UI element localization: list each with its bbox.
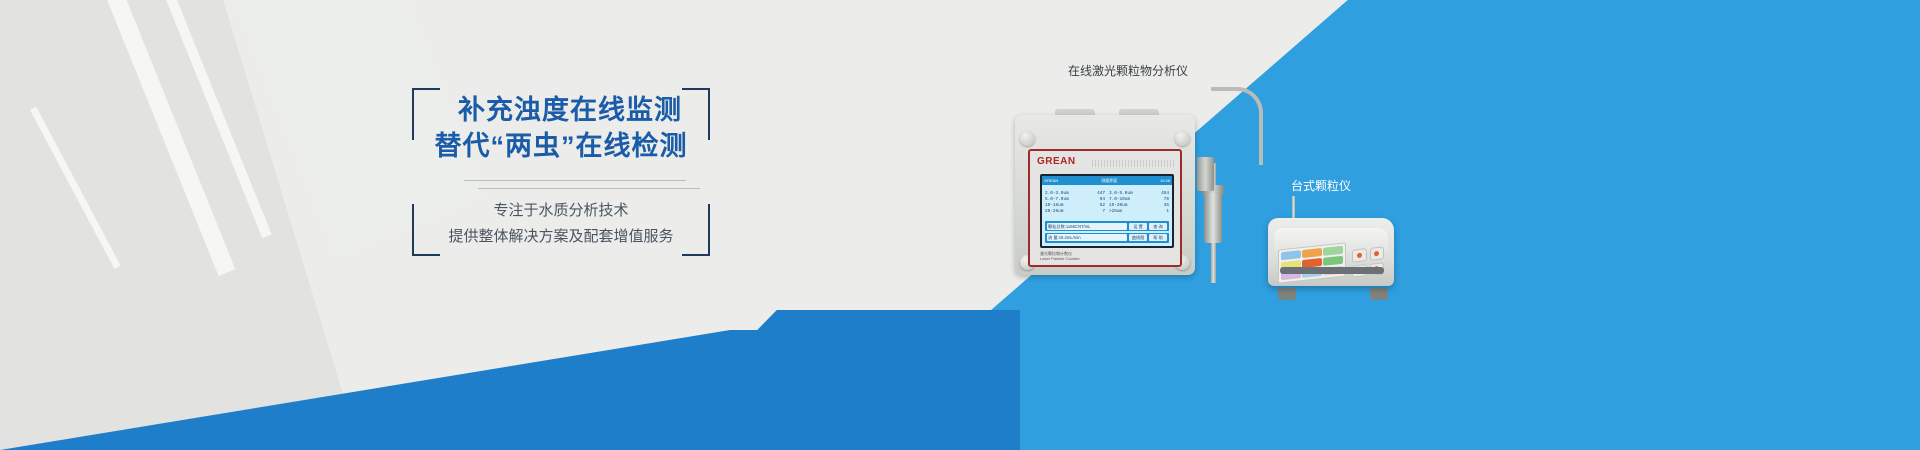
screen-title-right: 10:46 xyxy=(1160,178,1170,183)
subheadline-line-1: 专注于水质分析技术 xyxy=(412,198,710,224)
screen-reading-value: 52 xyxy=(1100,203,1105,208)
screen-chart-button[interactable]: 曲线图 xyxy=(1129,234,1147,241)
screen-reading-range: >25um xyxy=(1109,209,1122,214)
bench-label: 台式颗粒仪 xyxy=(1291,177,1351,194)
bench-foot-right xyxy=(1370,288,1388,300)
analyzer-screw-top-right xyxy=(1175,131,1190,146)
headline-line-1: 补充浊度在线监测 xyxy=(412,92,710,128)
analyzer-label: 在线激光颗粒物分析仪 xyxy=(1068,62,1188,79)
screen-reading-value: 1 xyxy=(1166,209,1169,214)
screen-reading-cell: 2.0-3.0um447 xyxy=(1045,191,1105,196)
subheadline: 专注于水质分析技术 提供整体解决方案及配套增值服务 xyxy=(412,198,710,250)
screen-title-bar: GREAN 测量界面 10:46 xyxy=(1042,176,1172,185)
screen-reading-value: 447 xyxy=(1097,191,1105,196)
analyzer-caption: 激光颗粒物计数仪 Laser Particle Counter xyxy=(1040,251,1080,261)
headline-line-2: 替代“两虫”在线检测 xyxy=(412,128,710,164)
screen-reading-cell: 15-20um35 xyxy=(1109,203,1169,208)
analyzer-front-panel: GREAN GREAN 测量界面 10:46 2.0-3.0um4473.0-5… xyxy=(1028,149,1182,267)
bench-front-slot xyxy=(1280,267,1384,274)
screen-total-field: 颗粒总数:1166CNT/mL xyxy=(1047,223,1127,230)
analyzer-port xyxy=(1197,157,1214,191)
screen-query-button[interactable]: 查 询 xyxy=(1149,223,1167,230)
bench-touchscreen[interactable] xyxy=(1278,242,1346,283)
screen-reading-cell: 10-15um52 xyxy=(1045,203,1105,208)
screen-reading-value: 35 xyxy=(1164,203,1169,208)
screen-reading-value: 7 xyxy=(1102,209,1105,214)
screen-reading-cell: >25um1 xyxy=(1109,209,1169,214)
online-analyzer-device: GREAN GREAN 测量界面 10:46 2.0-3.0um4473.0-5… xyxy=(1015,105,1195,280)
bench-tile-3 xyxy=(1323,246,1343,256)
screen-reading-value: 454 xyxy=(1161,191,1169,196)
analyzer-screw-top-left xyxy=(1020,131,1035,146)
bench-tile-2 xyxy=(1302,248,1322,258)
bench-tile-6 xyxy=(1323,256,1343,266)
subheadline-line-2: 提供整体解决方案及配套增值服务 xyxy=(412,224,710,250)
analyzer-brand-logo: GREAN xyxy=(1037,156,1076,167)
screen-settings-button[interactable]: 设 置 xyxy=(1129,223,1147,230)
screen-title-center: 测量界面 xyxy=(1101,178,1117,184)
bench-tile-1 xyxy=(1281,250,1301,260)
screen-reading-range: 10-15um xyxy=(1045,203,1063,208)
analyzer-valve xyxy=(1204,193,1222,243)
screen-reading-cell: 20-25um7 xyxy=(1045,209,1105,214)
screen-reading-cell: 5.0-7.0um94 xyxy=(1045,197,1105,202)
analyzer-screen[interactable]: GREAN 测量界面 10:46 2.0-3.0um4473.0-5.0um45… xyxy=(1040,174,1174,248)
bench-particle-counter-device xyxy=(1268,200,1398,300)
headline: 补充浊度在线监测 替代“两虫”在线检测 xyxy=(412,92,710,164)
bench-key-2[interactable] xyxy=(1370,246,1385,260)
screen-reading-range: 15-20um xyxy=(1109,203,1127,208)
screen-reading-value: 94 xyxy=(1100,197,1105,202)
bench-key-1[interactable] xyxy=(1352,248,1367,262)
bench-enclosure xyxy=(1268,218,1394,286)
analyzer-pipe-bend xyxy=(1211,87,1263,165)
screen-reading-cell: 3.0-5.0um454 xyxy=(1109,191,1169,196)
analyzer-vent-hatch xyxy=(1092,160,1174,167)
screen-reading-range: 7.0-10um xyxy=(1109,197,1130,202)
screen-row-total: 颗粒总数:1166CNT/mL 设 置 查 询 xyxy=(1045,221,1169,231)
bench-foot-left xyxy=(1278,288,1296,300)
screen-row-flow: 流 量:19.2mL/min 曲线图 帮 助 xyxy=(1045,233,1169,243)
screen-help-button[interactable]: 帮 助 xyxy=(1149,234,1167,241)
screen-reading-value: 76 xyxy=(1164,197,1169,202)
divider-upper xyxy=(464,180,686,181)
screen-readings-grid: 2.0-3.0um4473.0-5.0um4545.0-7.0um947.0-1… xyxy=(1042,185,1172,220)
screen-reading-range: 20-25um xyxy=(1045,209,1063,214)
screen-control-rows: 颗粒总数:1166CNT/mL 设 置 查 询 流 量:19.2mL/min 曲… xyxy=(1042,220,1172,246)
screen-reading-range: 5.0-7.0um xyxy=(1045,197,1069,202)
screen-reading-cell: 7.0-10um76 xyxy=(1109,197,1169,202)
analyzer-caption-en: Laser Particle Counter xyxy=(1040,256,1080,261)
promo-banner: 补充浊度在线监测 替代“两虫”在线检测 专注于水质分析技术 提供整体解决方案及配… xyxy=(0,0,1920,450)
screen-title-left: GREAN xyxy=(1044,178,1058,183)
divider-lower xyxy=(478,188,700,189)
analyzer-enclosure: GREAN GREAN 测量界面 10:46 2.0-3.0um4473.0-5… xyxy=(1015,115,1195,275)
screen-reading-range: 3.0-5.0um xyxy=(1109,191,1133,196)
headline-panel: 补充浊度在线监测 替代“两虫”在线检测 专注于水质分析技术 提供整体解决方案及配… xyxy=(412,88,710,256)
screen-flow-field: 流 量:19.2mL/min xyxy=(1047,234,1127,241)
screen-reading-range: 2.0-3.0um xyxy=(1045,191,1069,196)
